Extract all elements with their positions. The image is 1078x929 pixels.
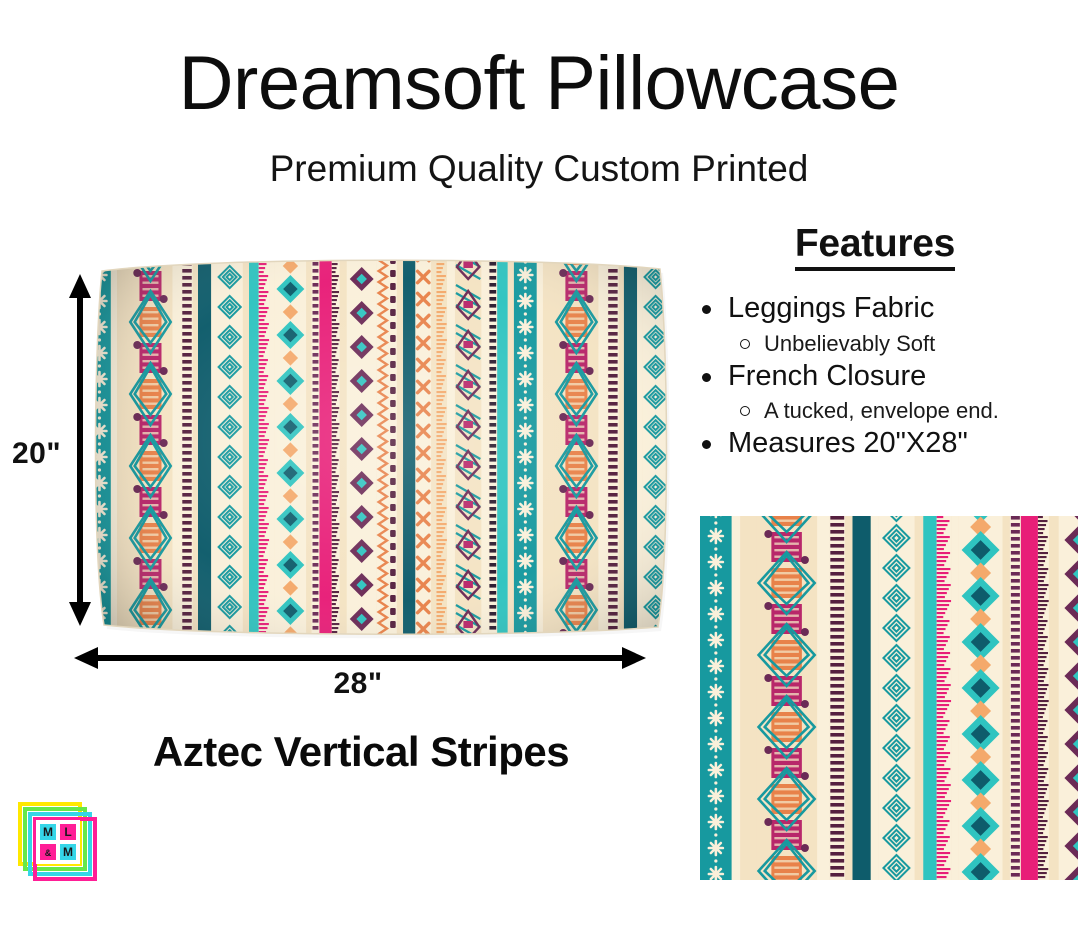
- features-heading: Features: [672, 222, 1078, 268]
- feature-label: Measures 20"X28": [698, 425, 1078, 463]
- list-item: French Closure A tucked, envelope end.: [698, 358, 1078, 426]
- feature-label: French Closure: [698, 358, 1078, 396]
- logo-cell-letter: M: [63, 845, 73, 859]
- features-panel: Features Leggings Fabric Unbelievably So…: [672, 222, 1078, 463]
- logo-cell-letter: M: [43, 825, 53, 839]
- height-label: 20": [12, 437, 61, 471]
- list-item: Leggings Fabric Unbelievably Soft: [698, 290, 1078, 358]
- height-dimension-arrow: [58, 272, 102, 628]
- feature-sublabel: A tucked, envelope end.: [698, 396, 1078, 425]
- list-item: Measures 20"X28": [698, 425, 1078, 463]
- pattern-name-caption: Aztec Vertical Stripes: [0, 728, 722, 776]
- page-title: Dreamsoft Pillowcase: [0, 0, 1078, 122]
- logo-cell-letter: &: [45, 848, 52, 858]
- features-list: Leggings Fabric Unbelievably Soft French…: [672, 290, 1078, 463]
- page-subtitle: Premium Quality Custom Printed: [0, 122, 1078, 187]
- fabric-swatch-image: [700, 516, 1078, 880]
- features-heading-text: Features: [795, 222, 955, 271]
- header: Dreamsoft Pillowcase Premium Quality Cus…: [0, 0, 1078, 187]
- fabric-swatch-pattern: [700, 516, 1078, 880]
- feature-label: Leggings Fabric: [698, 290, 1078, 328]
- brand-logo: ML&M: [14, 798, 100, 884]
- logo-cell-letter: L: [64, 825, 71, 839]
- feature-sublabel: Unbelievably Soft: [698, 329, 1078, 358]
- pillow-fabric-pattern: [88, 255, 678, 640]
- pillow-illustration: [88, 255, 678, 640]
- width-label: 28": [0, 667, 716, 701]
- pillow-product-image: [88, 255, 678, 640]
